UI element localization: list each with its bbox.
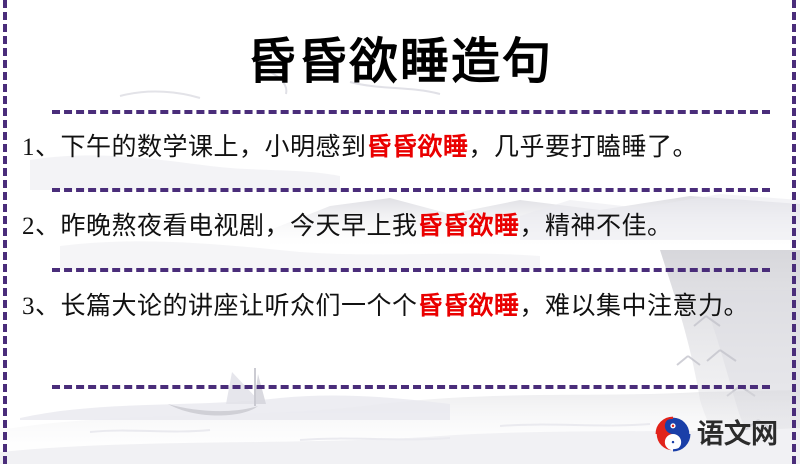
sentence-text-before: 长篇大论的讲座让听众们一个个: [61, 293, 418, 320]
site-logo-text: 语文网: [697, 421, 778, 448]
page-title: 昏昏欲睡造句: [0, 22, 800, 93]
slide-canvas: 昏昏欲睡造句 1、下午的数学课上，小明感到昏昏欲睡，几乎要打瞌睡了。 2、昨晚熬…: [0, 0, 800, 464]
list-item: 1、下午的数学课上，小明感到昏昏欲睡，几乎要打瞌睡了。: [18, 110, 782, 188]
sentence-index: 3、: [22, 293, 61, 320]
sentence-text-before: 昨晚熬夜看电视剧，今天早上我: [61, 213, 418, 240]
site-logo[interactable]: 语文网: [655, 416, 778, 452]
idiom-highlight: 昏昏欲睡: [418, 213, 520, 240]
idiom-highlight: 昏昏欲睡: [418, 293, 520, 320]
sentence-text-after: ，几乎要打瞌睡了。: [469, 134, 699, 161]
list-item: 2、昨晚熬夜看电视剧，今天早上我昏昏欲睡，精神不佳。: [18, 188, 782, 268]
sentence-list: 1、下午的数学课上，小明感到昏昏欲睡，几乎要打瞌睡了。 2、昨晚熬夜看电视剧，今…: [18, 110, 782, 385]
list-item: 3、长篇大论的讲座让听众们一个个昏昏欲睡，难以集中注意力。: [18, 268, 782, 385]
sentence-text-after: ，精神不佳。: [520, 213, 673, 240]
idiom-highlight: 昏昏欲睡: [367, 134, 469, 161]
yin-yang-fish-icon: [655, 416, 691, 452]
sentence-index: 1、: [22, 134, 61, 161]
divider-4: [52, 385, 770, 389]
sentence-text-before: 下午的数学课上，小明感到: [61, 134, 367, 161]
sentence-index: 2、: [22, 213, 61, 240]
sentence-text-after: ，难以集中注意力。: [520, 293, 750, 320]
